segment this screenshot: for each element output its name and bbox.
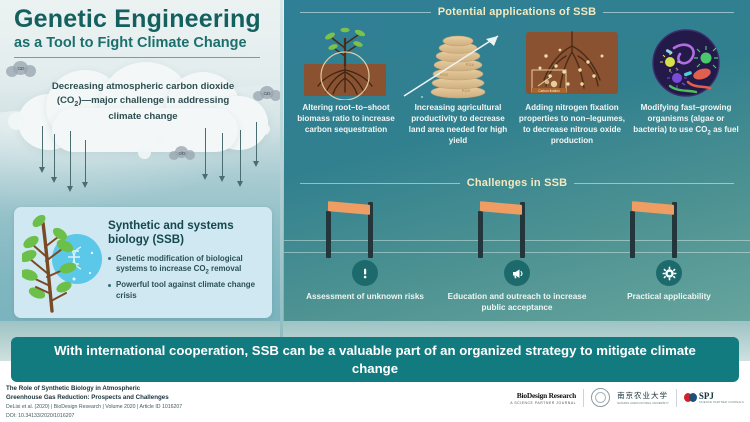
doi-text: DOI: 10.34133/2020/1016207 [6,413,406,419]
infographic-poster: Genetic Engineering as a Tool to Fight C… [0,0,750,422]
application-caption: Increasing agricultural productivity to … [402,102,514,146]
hurdle-icon [442,196,592,258]
application-caption: Altering root–to–shoot biomass ratio to … [290,102,402,135]
journal-tagline: A SCIENCE PARTNER JOURNAL [510,401,576,405]
seedling-roots-soil-icon [290,26,402,100]
co2-cloud-icon: CO2 [4,60,38,77]
title-divider [14,57,260,59]
heading-rule-left [300,12,431,13]
bubble-decor [156,138,164,146]
spj-tagline: SCIENCE PARTNER JOURNALS [699,401,744,404]
bubble-decor [222,139,232,149]
hurdle-icon [290,196,440,258]
ssb-bullet-list: Genetic modification of biological syste… [108,254,268,304]
university-name: 南京农业大学 [617,390,669,401]
application-caption: Adding nitrogen fixation properties to n… [516,102,628,146]
applications-row: Altering root–to–shoot biomass ratio to … [284,26,750,171]
citation-meta: DeLisi et al. (2020) | BioDesign Researc… [6,404,406,412]
co2-cloud-icon: CO2 [168,146,196,160]
challenge-caption: Education and outreach to increase publi… [442,291,592,313]
application-item: RiceRiceRice Increasing agricultural pro… [402,26,514,171]
ssb-bullet-item: Powerful tool against climate change cri… [108,280,268,301]
challenge-item: Practical applicability [594,196,744,258]
exclamation-icon [352,260,378,286]
logo-separator [676,389,677,407]
heading-rule-left [300,183,460,184]
cloud-message: Decreasing atmospheric carbon dioxide (C… [22,80,264,124]
rain-arrow-icon [222,133,223,177]
logo-row: BioDesign Research A SCIENCE PARTNER JOU… [510,388,744,407]
title-block: Genetic Engineering as a Tool to Fight C… [14,6,276,58]
gear-icon [656,260,682,286]
applications-heading: Potential applications of SSB [300,6,734,18]
challenge-caption: Practical applicability [594,291,744,302]
hurdle-icon [594,196,744,258]
logo-separator [583,389,584,407]
journal-name: BioDesign Research [510,391,576,400]
megaphone-icon [504,260,530,286]
conclusion-text: With international cooperation, SSB can … [11,342,739,377]
spj-logo: SPJ SCIENCE PARTNER JOURNALS [684,391,744,404]
biodesign-research-logo: BioDesign Research A SCIENCE PARTNER JOU… [510,391,576,405]
heading-rule-right [603,12,734,13]
left-panel: Genetic Engineering as a Tool to Fight C… [0,0,284,337]
co2-cloud-label: CO2 [168,146,196,160]
application-caption: Modifying fast–growing organisms (algae … [630,102,742,138]
page-title: Genetic Engineering [14,6,276,32]
application-item: Altering root–to–shoot biomass ratio to … [290,26,402,171]
university-logo: 南京农业大学 NANJING AGRICULTURAL UNIVERSITY [617,390,669,405]
university-subtitle: NANJING AGRICULTURAL UNIVERSITY [617,401,669,405]
applications-heading-text: Potential applications of SSB [438,6,597,18]
bubble-decor [138,146,151,159]
page-subtitle: as a Tool to Fight Climate Change [14,35,276,52]
rain-arrow-icon [70,131,71,187]
rain-arrow-icon [240,130,241,182]
rain-arrow-icon [85,140,86,183]
rain-arrow-icon [256,122,257,162]
conclusion-banner: With international cooperation, SSB can … [11,337,739,382]
challenges-row: Assessment of unknown risks Education an [284,196,750,324]
application-item: Modifying fast–growing organisms (algae … [630,26,742,171]
article-title-line-1: The Role of Synthetic Biology in Atmosph… [6,385,406,394]
citation-block: The Role of Synthetic Biology in Atmosph… [6,385,406,419]
spj-name: SPJ [699,391,744,401]
challenges-heading: Challenges in SSB [300,177,734,189]
ssb-definition-card: Synthetic and systems biology (SSB) Gene… [14,207,272,318]
plant-dna-illustration [22,215,108,313]
challenge-item: Assessment of unknown risks [290,196,440,258]
footer: The Role of Synthetic Biology in Atmosph… [0,382,750,422]
svg-text:Rice: Rice [466,62,475,67]
grain-sacks-growth-arrow-icon: RiceRiceRice [402,26,514,100]
right-panel: Potential applications of SSB [284,0,750,337]
bubble-decor [258,123,270,135]
rain-arrow-icon [42,126,43,168]
rain-arrow-icon [205,128,206,175]
root-nodules-nitrogen-icon: Carbon fixation [516,26,628,100]
application-item: Carbon fixation Adding nitrogen fixation… [516,26,628,171]
svg-text:Rice: Rice [462,88,471,93]
petri-dish-microbes-icon [630,26,742,100]
university-seal-icon [591,388,610,407]
challenge-caption: Assessment of unknown risks [290,291,440,302]
challenge-item: Education and outreach to increase publi… [442,196,592,258]
article-title-line-2: Greenhouse Gas Reduction: Prospects and … [6,394,406,403]
ssb-card-title: Synthetic and systems biology (SSB) [108,219,264,247]
bubble-decor [169,143,174,148]
challenges-heading-text: Challenges in SSB [467,177,568,189]
heading-rule-right [574,183,734,184]
svg-text:Carbon fixation: Carbon fixation [538,89,560,93]
panel-divider [280,0,283,337]
rain-arrow-icon [54,134,55,178]
co2-cloud-label: CO2 [4,60,38,77]
ssb-bullet-item: Genetic modification of biological syste… [108,254,268,278]
spj-mark-icon [684,393,697,402]
